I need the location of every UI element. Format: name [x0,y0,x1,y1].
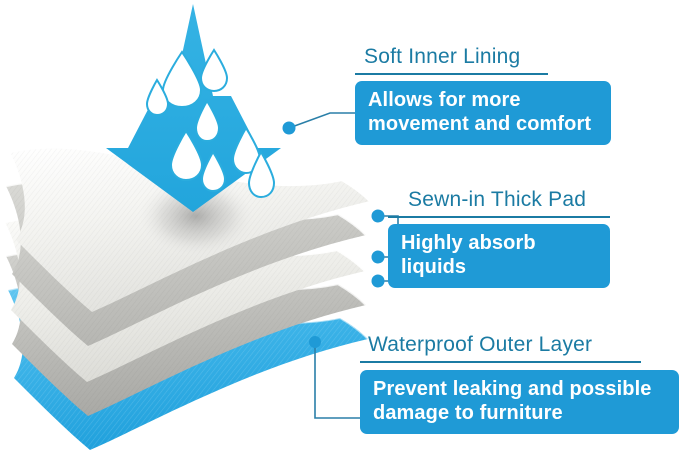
callout-rule-waterproof-outer-layer [360,361,641,363]
callout-body-line-1: Allows for more [368,89,598,113]
callout-sewn-in-thick-pad: Sewn-in Thick Pad Highly absorb liquids [388,188,610,288]
callout-box-waterproof-outer-layer: Prevent leaking and possible damage to f… [360,370,679,434]
callout-waterproof-outer-layer: Waterproof Outer Layer Prevent leaking a… [360,333,679,434]
callout-box-sewn-in-thick-pad: Highly absorb liquids [388,224,610,288]
callout-box-soft-inner-lining: Allows for more movement and comfort [355,81,611,145]
product-infographic: Soft Inner Lining Allows for more moveme… [0,0,679,455]
callout-body-line-1: Prevent leaking and possible [373,378,666,402]
callout-soft-inner-lining: Soft Inner Lining Allows for more moveme… [355,45,611,145]
callout-heading-waterproof-outer-layer: Waterproof Outer Layer [368,333,679,356]
callout-body-line-2: movement and comfort [368,113,598,137]
callout-body-line-1: Highly absorb liquids [401,232,597,279]
callout-heading-sewn-in-thick-pad: Sewn-in Thick Pad [408,188,610,211]
callout-rule-sewn-in-thick-pad [388,216,610,218]
callout-body-line-2: damage to furniture [373,402,666,426]
callout-heading-soft-inner-lining: Soft Inner Lining [364,45,611,68]
callout-rule-soft-inner-lining [355,73,548,75]
layered-pad-illustration [0,0,400,455]
